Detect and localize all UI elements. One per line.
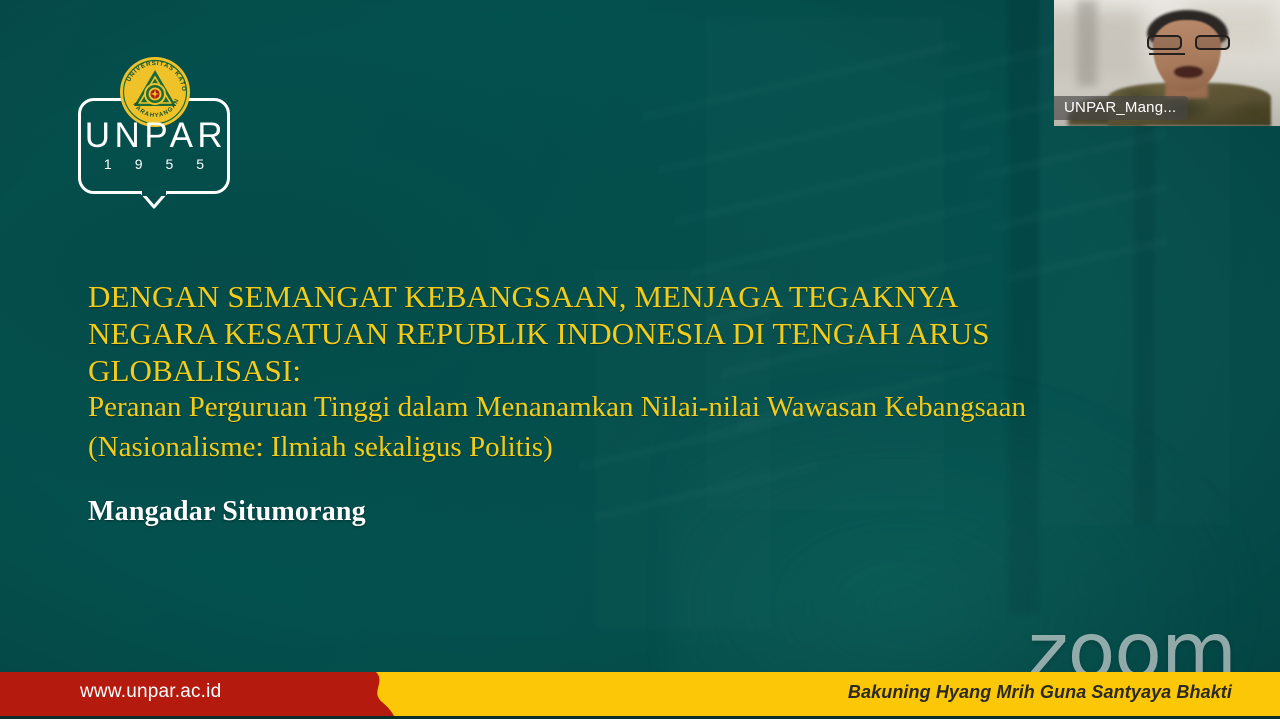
- participant-name-label: UNPAR_Mang...: [1054, 96, 1188, 120]
- glasses-bridge: [1149, 53, 1185, 56]
- logo-wordmark: UNPAR: [78, 116, 230, 156]
- video-doorframe: [1077, 0, 1097, 86]
- zoom-shared-screen: UNIVERSITAS KATOLIK PARAHYANGAN UNPAR 19…: [0, 0, 1280, 719]
- participant-video-tile[interactable]: UNPAR_Mang...: [1054, 0, 1280, 126]
- unpar-logo: UNIVERSITAS KATOLIK PARAHYANGAN UNPAR 19…: [78, 56, 240, 214]
- footer-website-url[interactable]: www.unpar.ac.id: [80, 681, 221, 703]
- video-mouth: [1174, 66, 1203, 79]
- glasses-left-lens: [1147, 35, 1182, 50]
- video-blur-left: [1054, 10, 1144, 81]
- glasses-icon: [1147, 35, 1231, 50]
- footer-motto: Bakuning Hyang Mrih Guna Santyaya Bhakti: [848, 682, 1232, 703]
- slide-subtitle: Peranan Perguruan Tinggi dalam Menanamka…: [88, 387, 1078, 467]
- glasses-right-lens: [1195, 35, 1230, 50]
- logo-year: 1955: [78, 156, 230, 172]
- logo-bubble-tail-mask: [142, 190, 166, 196]
- slide-speaker-name: Mangadar Situmorang: [88, 496, 366, 528]
- slide-title: DENGAN SEMANGAT KEBANGSAAN, MENJAGA TEGA…: [88, 278, 1078, 389]
